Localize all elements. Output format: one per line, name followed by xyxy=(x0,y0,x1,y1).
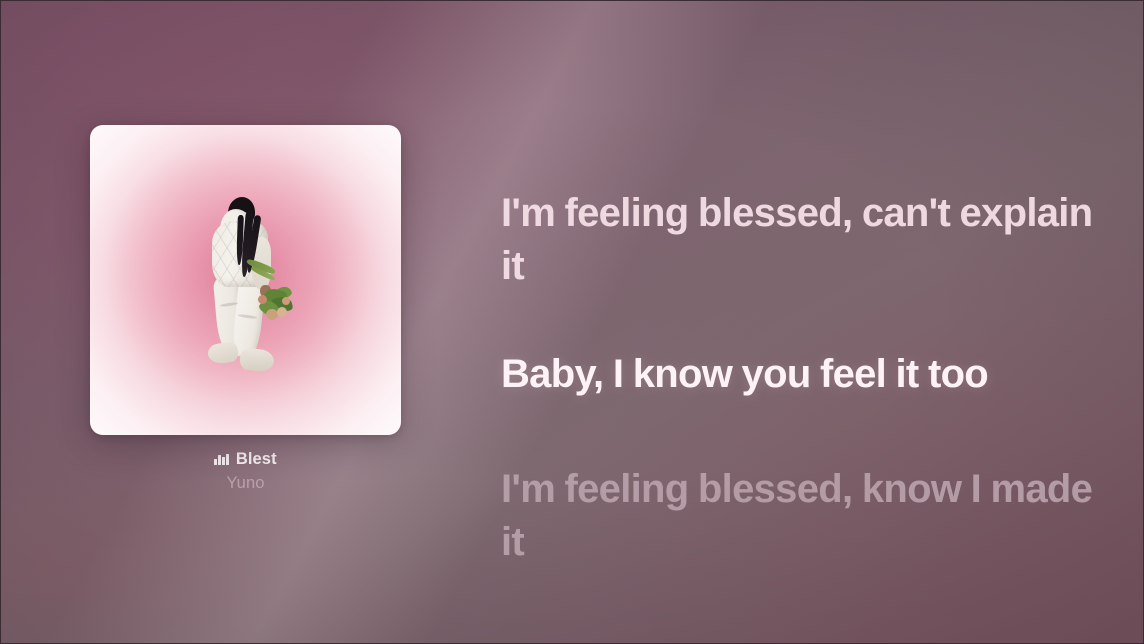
track-meta: Blest Yuno xyxy=(90,449,401,493)
now-playing-window: Blest Yuno I'm feeling blessed, can't ex… xyxy=(0,0,1144,644)
lyrics-panel[interactable]: I'm feeling blessed, can't explain it Ba… xyxy=(501,187,1101,569)
figure-boot-front xyxy=(238,347,274,373)
lyric-line-upcoming[interactable]: I'm feeling blessed, know I made it xyxy=(501,463,1101,569)
figure-boot-back xyxy=(206,341,238,365)
artwork-figure xyxy=(180,185,312,375)
bouquet-bloom xyxy=(277,307,287,317)
lyric-line-past[interactable]: I'm feeling blessed, can't explain it xyxy=(501,187,1101,293)
track-title[interactable]: Blest xyxy=(236,450,277,469)
album-artwork[interactable] xyxy=(90,125,401,435)
lyric-line-active[interactable]: Baby, I know you feel it too xyxy=(501,348,1101,401)
bouquet-bloom xyxy=(258,295,267,304)
track-panel: Blest Yuno xyxy=(90,125,401,493)
bouquet-bloom xyxy=(282,297,290,305)
track-title-row: Blest xyxy=(90,449,401,469)
equalizer-icon xyxy=(214,453,229,465)
track-artist[interactable]: Yuno xyxy=(90,474,401,493)
